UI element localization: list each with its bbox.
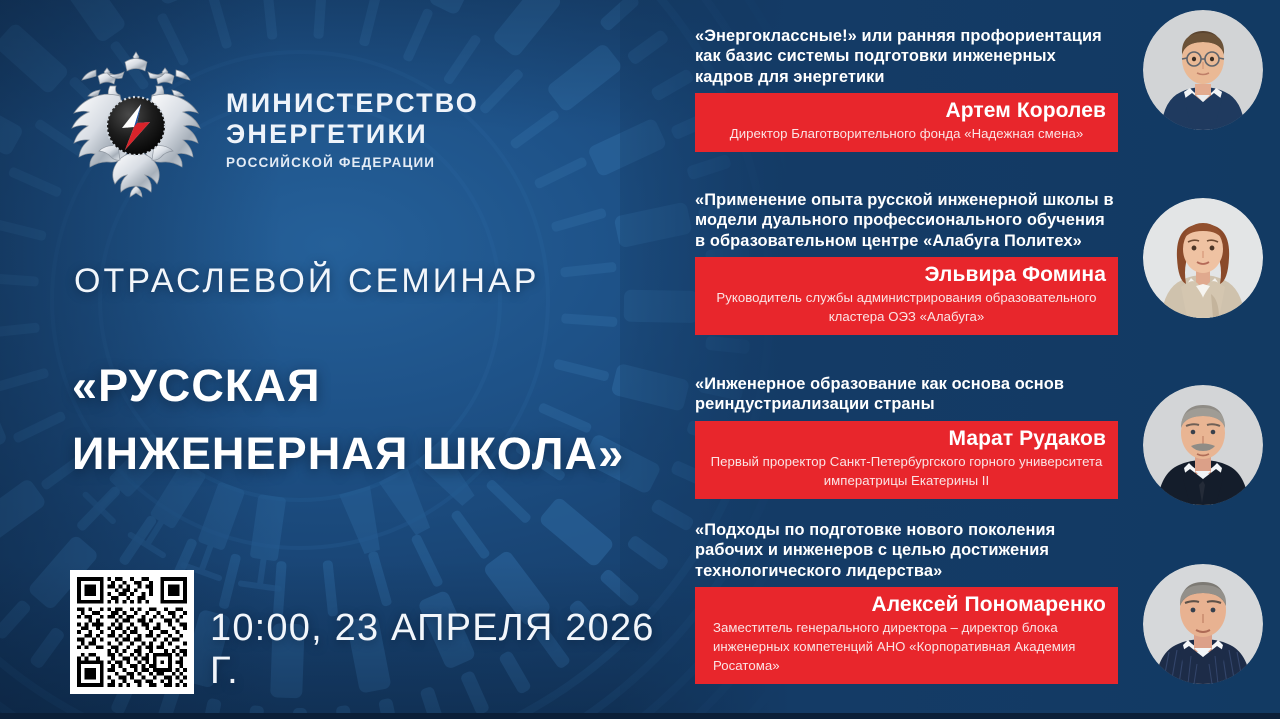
ministry-name-line-1: Министерство xyxy=(226,88,479,119)
ministry-name-line-3: Российской Федерации xyxy=(226,155,479,170)
event-title-line-1: «Русская xyxy=(72,352,672,420)
qr-code[interactable] xyxy=(70,570,194,694)
event-title-line-2: инженерная школа» xyxy=(72,420,672,488)
speaker-role: Заместитель генерального директора – дир… xyxy=(704,619,1109,675)
speaker-role: Первый проректор Санкт-Петербургского го… xyxy=(704,453,1109,490)
speaker-card: Марат Рудаков Первый проректор Санкт-Пет… xyxy=(695,421,1118,499)
speaker-card: Эльвира Фомина Руководитель службы админ… xyxy=(695,257,1118,335)
bottom-accent-bar xyxy=(0,713,1280,719)
speaker-role: Директор Благотворительного фонда «Надеж… xyxy=(704,125,1109,144)
ministry-name-line-2: энергетики xyxy=(226,119,479,150)
event-kicker: Отраслевой семинар xyxy=(74,262,540,301)
event-title: «Русская инженерная школа» xyxy=(72,352,672,489)
speaker-name: Марат Рудаков xyxy=(704,426,1109,452)
russian-double-headed-eagle-emblem xyxy=(62,46,210,206)
portrait-aleksey-ponomarenko xyxy=(1143,564,1263,684)
portrait-artem-korolev xyxy=(1143,10,1263,130)
portrait-marat-rudakov xyxy=(1143,385,1263,505)
talk-title: «Инженерное образование как основа основ… xyxy=(695,374,1118,415)
left-panel: Министерство энергетики Российской Федер… xyxy=(0,0,660,713)
ministry-logo-lockup: Министерство энергетики Российской Федер… xyxy=(62,46,479,206)
speaker-name: Алексей Пономаренко xyxy=(704,592,1109,618)
talk-title: «Применение опыта русской инженерной шко… xyxy=(695,190,1118,251)
event-announcement-poster: Министерство энергетики Российской Федер… xyxy=(0,0,1280,719)
talk-title: «Энергоклассные!» или ранняя профориента… xyxy=(695,26,1118,87)
speaker-card: Артем Королев Директор Благотворительног… xyxy=(695,93,1118,152)
speaker-role: Руководитель службы администрирования об… xyxy=(704,289,1109,326)
talk-title: «Подходы по подготовке нового поколения … xyxy=(695,520,1118,581)
right-panel-program-list: «Энергоклассные!» или ранняя профориента… xyxy=(660,0,1280,719)
event-datetime: 10:00, 23 апреля 2026 г. xyxy=(210,607,660,693)
portrait-elvira-fomina xyxy=(1143,198,1263,318)
speaker-card: Алексей Пономаренко Заместитель генераль… xyxy=(695,587,1118,684)
speaker-name: Артем Королев xyxy=(704,98,1109,124)
speaker-name: Эльвира Фомина xyxy=(704,262,1109,288)
